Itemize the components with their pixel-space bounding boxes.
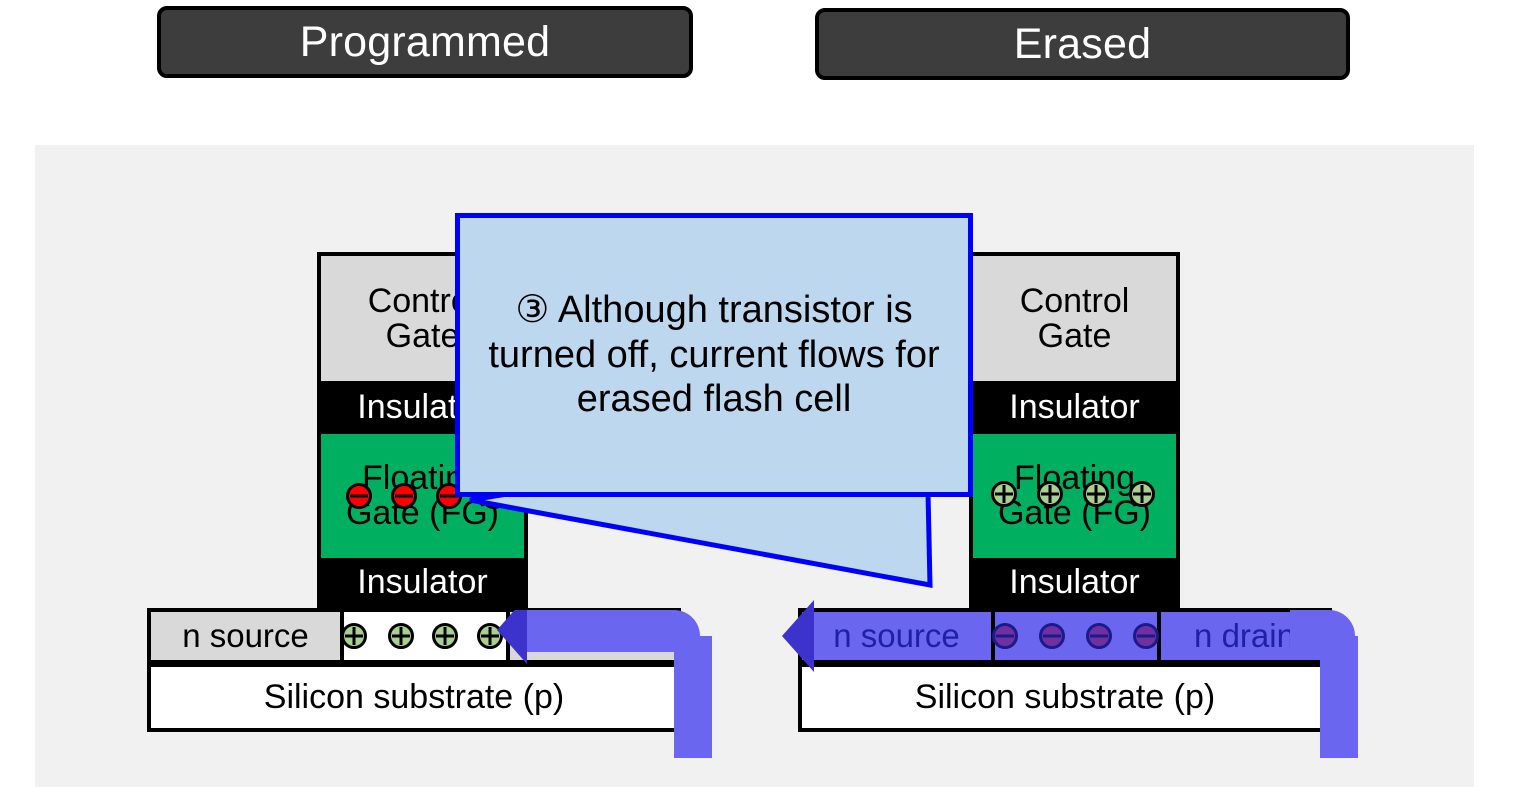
right-fg-charge-4	[1129, 481, 1155, 507]
left-fg-charge-1	[346, 483, 372, 509]
right-insulator-top-label: Insulator	[1009, 390, 1139, 425]
right-channel-charge-4	[1133, 623, 1159, 649]
right-insulator-top: Insulator	[969, 381, 1180, 434]
right-fg-charge-3	[1083, 481, 1109, 507]
right-substrate-label: Silicon substrate (p)	[915, 680, 1215, 715]
right-current-arrowhead	[782, 600, 814, 672]
right-control-gate: Control Gate	[969, 252, 1180, 381]
left-silicon-substrate: Silicon substrate (p)	[147, 663, 681, 732]
right-n-drain-label: n drain	[1194, 619, 1295, 653]
left-channel-charge-1	[341, 623, 367, 649]
left-fg-charge-2	[391, 483, 417, 509]
right-cg-label-line2: Gate	[1038, 319, 1112, 354]
header-pill-programmed: Programmed	[157, 6, 693, 78]
callout-bubble: ③ Although transistor is turned off, cur…	[455, 213, 973, 497]
right-fg-label-line2: Gate (FG)	[998, 496, 1151, 531]
right-channel-charge-1	[992, 623, 1018, 649]
header-label-erased: Erased	[1014, 23, 1151, 66]
left-channel-charge-2	[388, 623, 414, 649]
right-fg-charge-2	[1037, 481, 1063, 507]
left-current-path-horizontal	[520, 610, 700, 652]
right-fg-label-line1: Floating	[1014, 461, 1135, 496]
right-silicon-substrate: Silicon substrate (p)	[798, 663, 1332, 732]
diagram-canvas: Programmed Erased Silicon substrate (p) …	[0, 0, 1521, 787]
left-cg-label-line2: Gate	[386, 319, 460, 354]
right-channel-charge-3	[1086, 623, 1112, 649]
right-n-source-label: n source	[833, 619, 960, 653]
left-n-source: n source	[147, 608, 344, 664]
right-fg-charge-1	[991, 481, 1017, 507]
left-channel-charge-3	[432, 623, 458, 649]
right-insulator-bottom-label: Insulator	[1009, 565, 1139, 600]
header-pill-erased: Erased	[815, 8, 1350, 80]
right-current-path-vertical	[1320, 636, 1358, 758]
left-substrate-label: Silicon substrate (p)	[264, 680, 564, 715]
callout-text: ③ Although transistor is turned off, cur…	[478, 288, 950, 422]
left-current-path-vertical	[674, 636, 712, 758]
right-n-source: n source	[798, 608, 995, 664]
left-n-source-label: n source	[182, 619, 309, 653]
header-label-programmed: Programmed	[300, 21, 551, 64]
right-insulator-bottom: Insulator	[969, 558, 1180, 610]
right-channel-charge-2	[1039, 623, 1065, 649]
right-cg-label-line1: Control	[1020, 284, 1130, 319]
